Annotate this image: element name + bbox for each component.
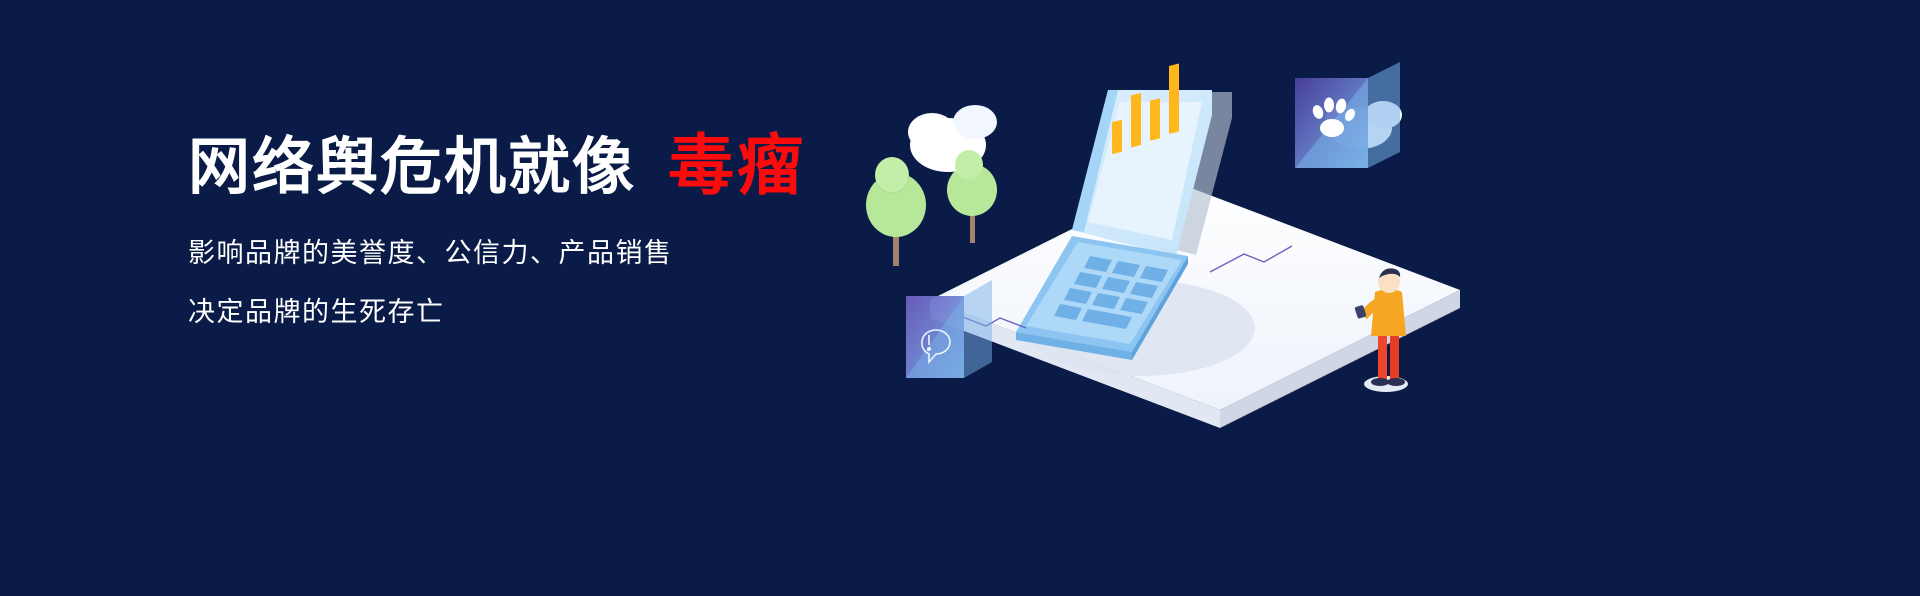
headline-accent-text: 毒瘤: [668, 128, 806, 204]
hero-banner: 网络舆危机就像 毒瘤 影响品牌的美誉度、公信力、产品销售 决定品牌的生死存亡: [0, 0, 1920, 596]
hero-illustration: [840, 60, 1480, 460]
subtitle-line-1: 影响品牌的美誉度、公信力、产品销售: [188, 240, 908, 267]
headline-main-text: 网络舆危机就像: [188, 132, 636, 203]
page-title: 网络舆危机就像 毒瘤: [188, 128, 908, 204]
cloud-large-icon: [908, 105, 997, 172]
hero-text-block: 网络舆危机就像 毒瘤 影响品牌的美誉度、公信力、产品销售 决定品牌的生死存亡: [188, 128, 908, 326]
subtitle-line-2: 决定品牌的生死存亡: [188, 299, 908, 326]
paw-panel: [1295, 62, 1400, 168]
tree-left-icon: [866, 157, 926, 266]
